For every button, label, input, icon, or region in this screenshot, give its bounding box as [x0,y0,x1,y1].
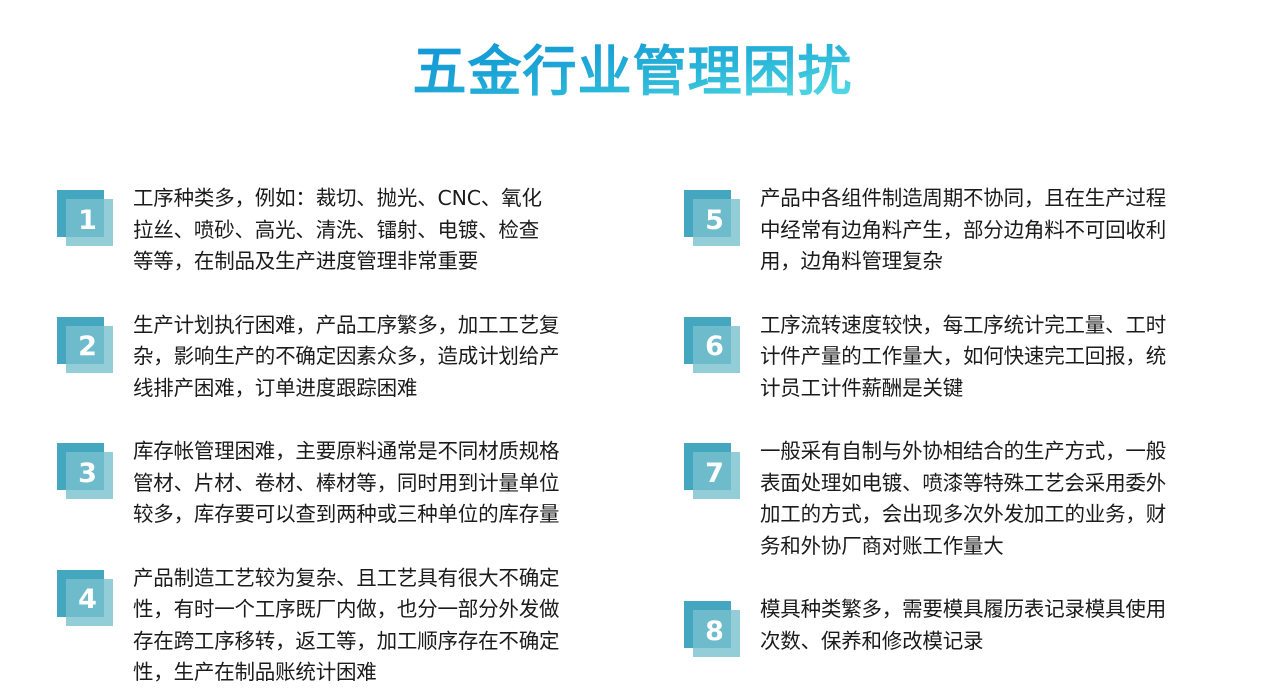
content-columns: 1 工序种类多，例如：裁切、抛光、CNC、氧化 拉丝、喷砂、高光、清洗、镭射、电… [0,183,1265,689]
list-item-text: 模具种类繁多，需要模具履历表记录模具使用 次数、保养和修改模记录 [760,594,1257,657]
list-item: 4 产品制造工艺较为复杂、且工艺具有很大不确定 性，有时一个工序既厂内做，也分一… [57,563,632,689]
badge-number: 3 [57,443,113,499]
badge-number: 2 [57,317,113,373]
badge-number: 7 [684,443,740,499]
title-container: 五金行业管理困扰 [0,40,1265,104]
list-item: 1 工序种类多，例如：裁切、抛光、CNC、氧化 拉丝、喷砂、高光、清洗、镭射、电… [57,183,632,278]
column-right: 5 产品中各组件制造周期不协同，且在生产过程 中经常有边角料产生，部分边角料不可… [632,183,1264,661]
number-badge: 6 [684,317,747,377]
number-badge: 7 [684,443,747,503]
number-badge: 3 [57,443,120,503]
badge-number: 1 [57,190,113,246]
list-item: 8 模具种类繁多，需要模具履历表记录模具使用 次数、保养和修改模记录 [684,594,1264,661]
number-badge: 1 [57,190,120,250]
list-item-text: 产品中各组件制造周期不协同，且在生产过程 中经常有边角料产生，部分边角料不可回收… [760,183,1257,278]
list-item-text: 工序流转速度较快，每工序统计完工量、工时 计件产量的工作量大，如何快速完工回报，… [760,310,1257,405]
number-badge: 4 [57,570,120,630]
badge-number: 4 [57,570,113,626]
list-item-text: 生产计划执行困难，产品工序繁多，加工工艺复 杂，影响生产的不确定因素众多，造成计… [133,310,632,405]
list-item-text: 产品制造工艺较为复杂、且工艺具有很大不确定 性，有时一个工序既厂内做，也分一部分… [133,563,632,689]
badge-number: 6 [684,317,740,373]
number-badge: 2 [57,317,120,377]
number-badge: 8 [684,601,747,661]
list-item-text: 工序种类多，例如：裁切、抛光、CNC、氧化 拉丝、喷砂、高光、清洗、镭射、电镀、… [133,183,632,278]
list-item: 6 工序流转速度较快，每工序统计完工量、工时 计件产量的工作量大，如何快速完工回… [684,310,1264,405]
badge-number: 5 [684,190,740,246]
list-item: 7 一般采有自制与外协相结合的生产方式，一般 表面处理如电镀、喷漆等特殊工艺会采… [684,436,1264,562]
number-badge: 5 [684,190,747,250]
list-item: 2 生产计划执行困难，产品工序繁多，加工工艺复 杂，影响生产的不确定因素众多，造… [57,310,632,405]
column-left: 1 工序种类多，例如：裁切、抛光、CNC、氧化 拉丝、喷砂、高光、清洗、镭射、电… [0,183,632,689]
list-item: 3 库存帐管理困难，主要原料通常是不同材质规格 管材、片材、卷材、棒材等，同时用… [57,436,632,531]
list-item: 5 产品中各组件制造周期不协同，且在生产过程 中经常有边角料产生，部分边角料不可… [684,183,1264,278]
slide-root: 五金行业管理困扰 1 工序种类多，例如：裁切、抛光、CNC、氧化 拉丝、喷砂、高… [0,0,1265,689]
list-item-text: 一般采有自制与外协相结合的生产方式，一般 表面处理如电镀、喷漆等特殊工艺会采用委… [760,436,1257,562]
page-title: 五金行业管理困扰 [413,40,853,104]
badge-number: 8 [684,601,740,657]
list-item-text: 库存帐管理困难，主要原料通常是不同材质规格 管材、片材、卷材、棒材等，同时用到计… [133,436,632,531]
